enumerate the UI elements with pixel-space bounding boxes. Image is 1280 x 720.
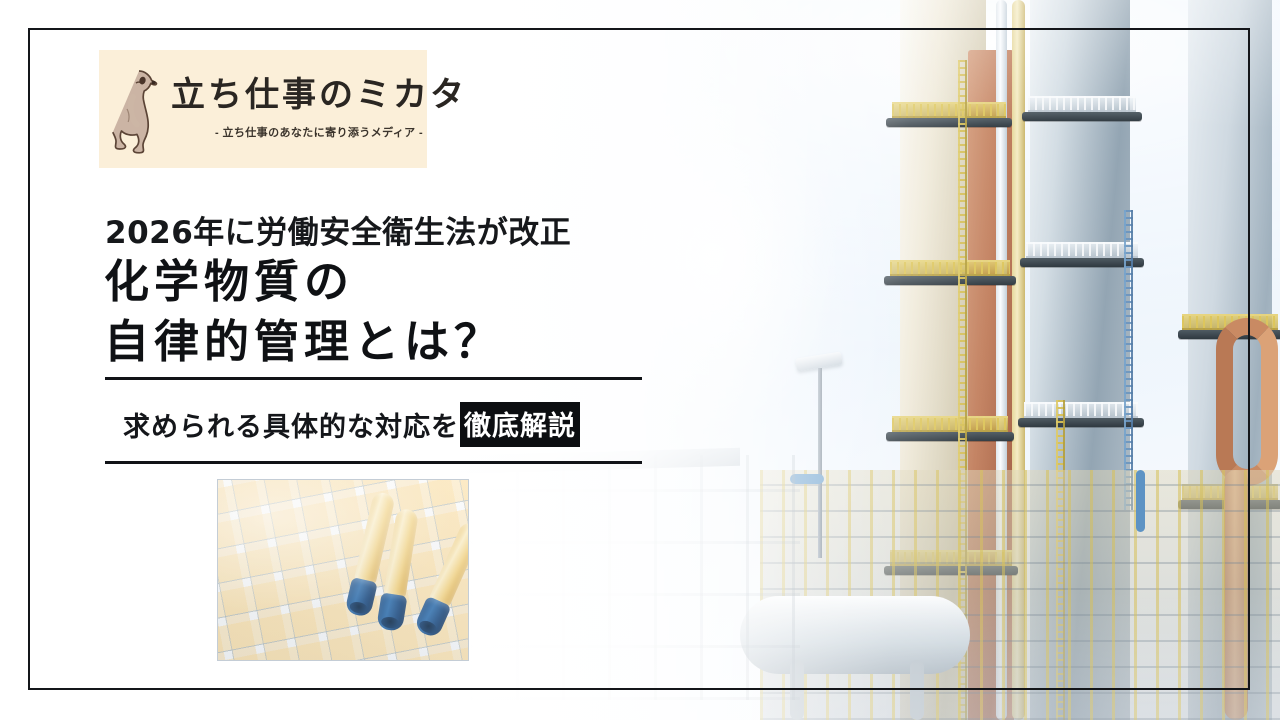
logo-tagline: - 立ち仕事のあなたに寄り添うメディア -	[215, 124, 423, 140]
thumbnail-canvas: 立ち仕事のミカタ - 立ち仕事のあなたに寄り添うメディア - 2026年に労働安…	[0, 0, 1280, 720]
site-logo[interactable]: 立ち仕事のミカタ - 立ち仕事のあなたに寄り添うメディア -	[99, 50, 427, 168]
divider-rule-bottom	[105, 461, 642, 464]
headline-main: 化学物質の 自律的管理とは？	[104, 252, 504, 372]
subheadline: 求められる具体的な対応を 徹底解説	[123, 402, 580, 447]
logo-text-block: 立ち仕事のミカタ - 立ち仕事のあなたに寄り添うメディア -	[171, 78, 467, 140]
headline-line-1: 化学物質の	[104, 252, 504, 312]
headline-line-2: 自律的管理とは？	[104, 312, 504, 372]
meerkat-icon	[109, 63, 165, 155]
subheadline-lead: 求められる具体的な対応を	[123, 405, 459, 444]
divider-rule-top	[105, 377, 642, 380]
logo-title: 立ち仕事のミカタ	[171, 78, 467, 114]
inset-photo-lighting	[218, 480, 468, 660]
subheadline-highlight: 徹底解説	[460, 402, 580, 447]
headline-kicker: 2026年に労働安全衛生法が改正	[105, 207, 571, 252]
inset-photo-detector-tubes	[218, 480, 468, 660]
